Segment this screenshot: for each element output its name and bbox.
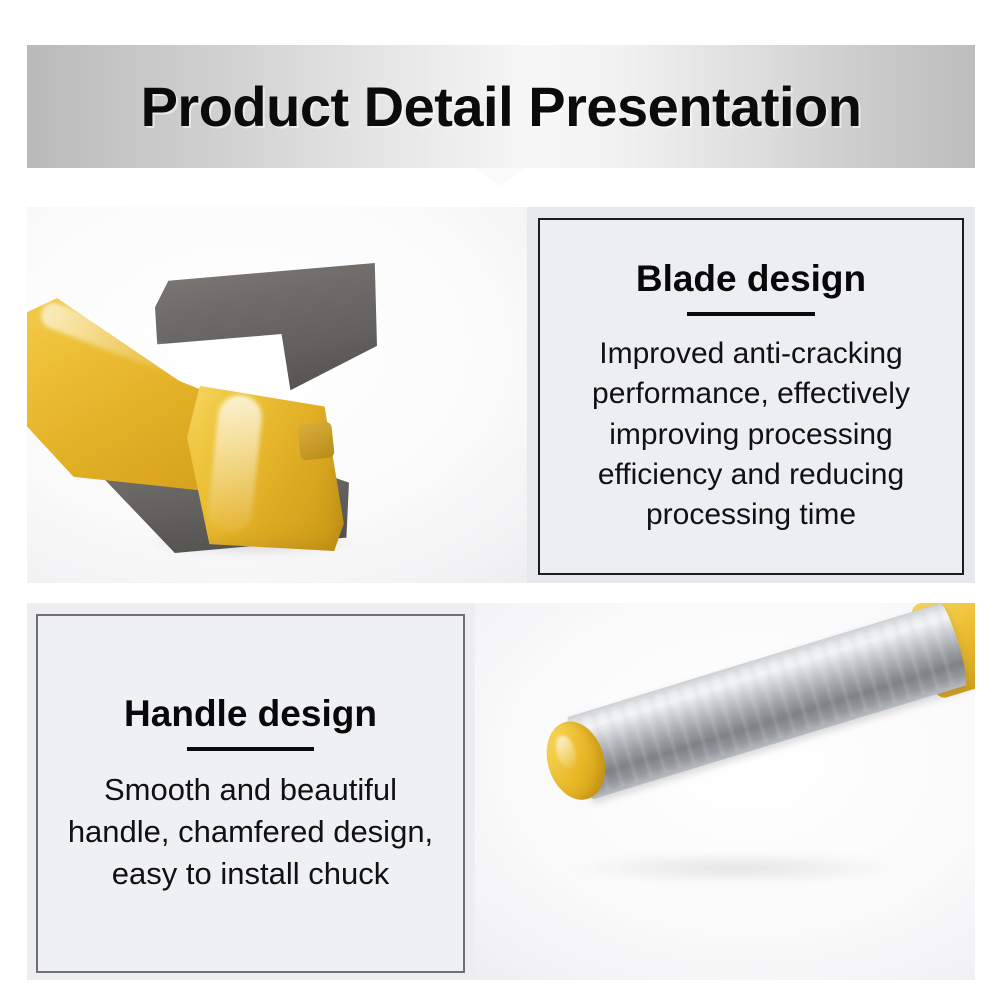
blade-design-card: Blade design Improved anti-cracking perf… xyxy=(538,218,964,575)
router-bit-handle-photo xyxy=(475,603,975,980)
product-detail-page: Product Detail Presentation Blade design… xyxy=(0,0,1000,1000)
blade-card-heading: Blade design xyxy=(636,258,866,301)
blade-card-divider xyxy=(687,312,815,316)
triangle-down-icon xyxy=(476,168,524,186)
shank-assembly xyxy=(515,603,969,847)
bit-notch xyxy=(297,421,335,460)
handle-design-card: Handle design Smooth and beautiful handl… xyxy=(36,614,465,973)
shank-drop-shadow xyxy=(571,853,901,883)
handle-card-heading: Handle design xyxy=(124,693,377,736)
router-bit-blade-photo xyxy=(27,207,527,583)
bit-yellow-head xyxy=(187,379,347,551)
handle-card-divider xyxy=(187,747,314,751)
blade-card-body: Improved anti-cracking performance, effe… xyxy=(540,334,962,535)
page-title: Product Detail Presentation xyxy=(141,74,862,139)
header-banner: Product Detail Presentation xyxy=(27,45,975,168)
handle-card-body: Smooth and beautiful handle, chamfered d… xyxy=(38,769,463,894)
section-blade: Blade design Improved anti-cracking perf… xyxy=(27,207,975,583)
section-handle: Handle design Smooth and beautiful handl… xyxy=(27,603,975,980)
